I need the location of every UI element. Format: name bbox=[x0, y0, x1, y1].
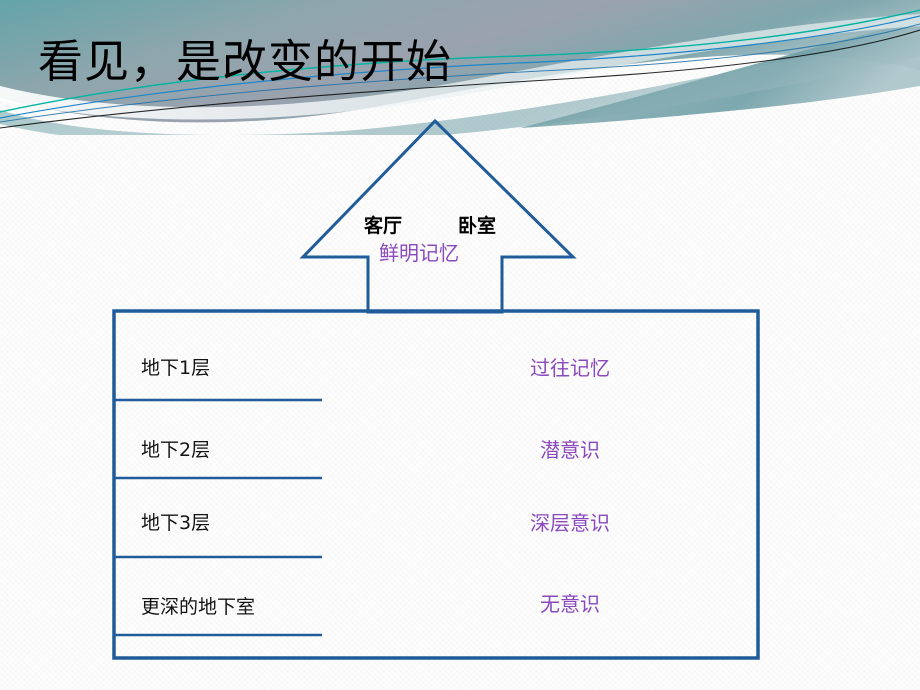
floor-name-b2: 地下2层 bbox=[141, 435, 210, 462]
floor-meaning-deepest: 无意识 bbox=[420, 588, 720, 617]
page-title: 看见，是改变的开始 bbox=[38, 36, 452, 88]
floor-name-deepest: 更深的地下室 bbox=[141, 592, 255, 619]
floor-name-b1: 地下1层 bbox=[141, 353, 210, 380]
up-arrow-icon bbox=[303, 121, 573, 312]
slide-canvas: 看见，是改变的开始 客厅 卧室 鲜明记忆 地下1层 地下2层 地下3层 更深的地… bbox=[0, 0, 920, 690]
floor-meaning-b1: 过往记忆 bbox=[420, 352, 720, 381]
floor-name-b3: 地下3层 bbox=[141, 508, 210, 535]
roof-note-vivid-memory: 鲜明记忆 bbox=[379, 237, 459, 266]
house-outline-icon bbox=[0, 0, 920, 690]
roof-label-bedroom: 卧室 bbox=[458, 211, 496, 238]
floor-meaning-b3: 深层意识 bbox=[420, 507, 720, 536]
floor-meaning-b2: 潜意识 bbox=[420, 434, 720, 463]
roof-label-living-room: 客厅 bbox=[364, 211, 402, 238]
